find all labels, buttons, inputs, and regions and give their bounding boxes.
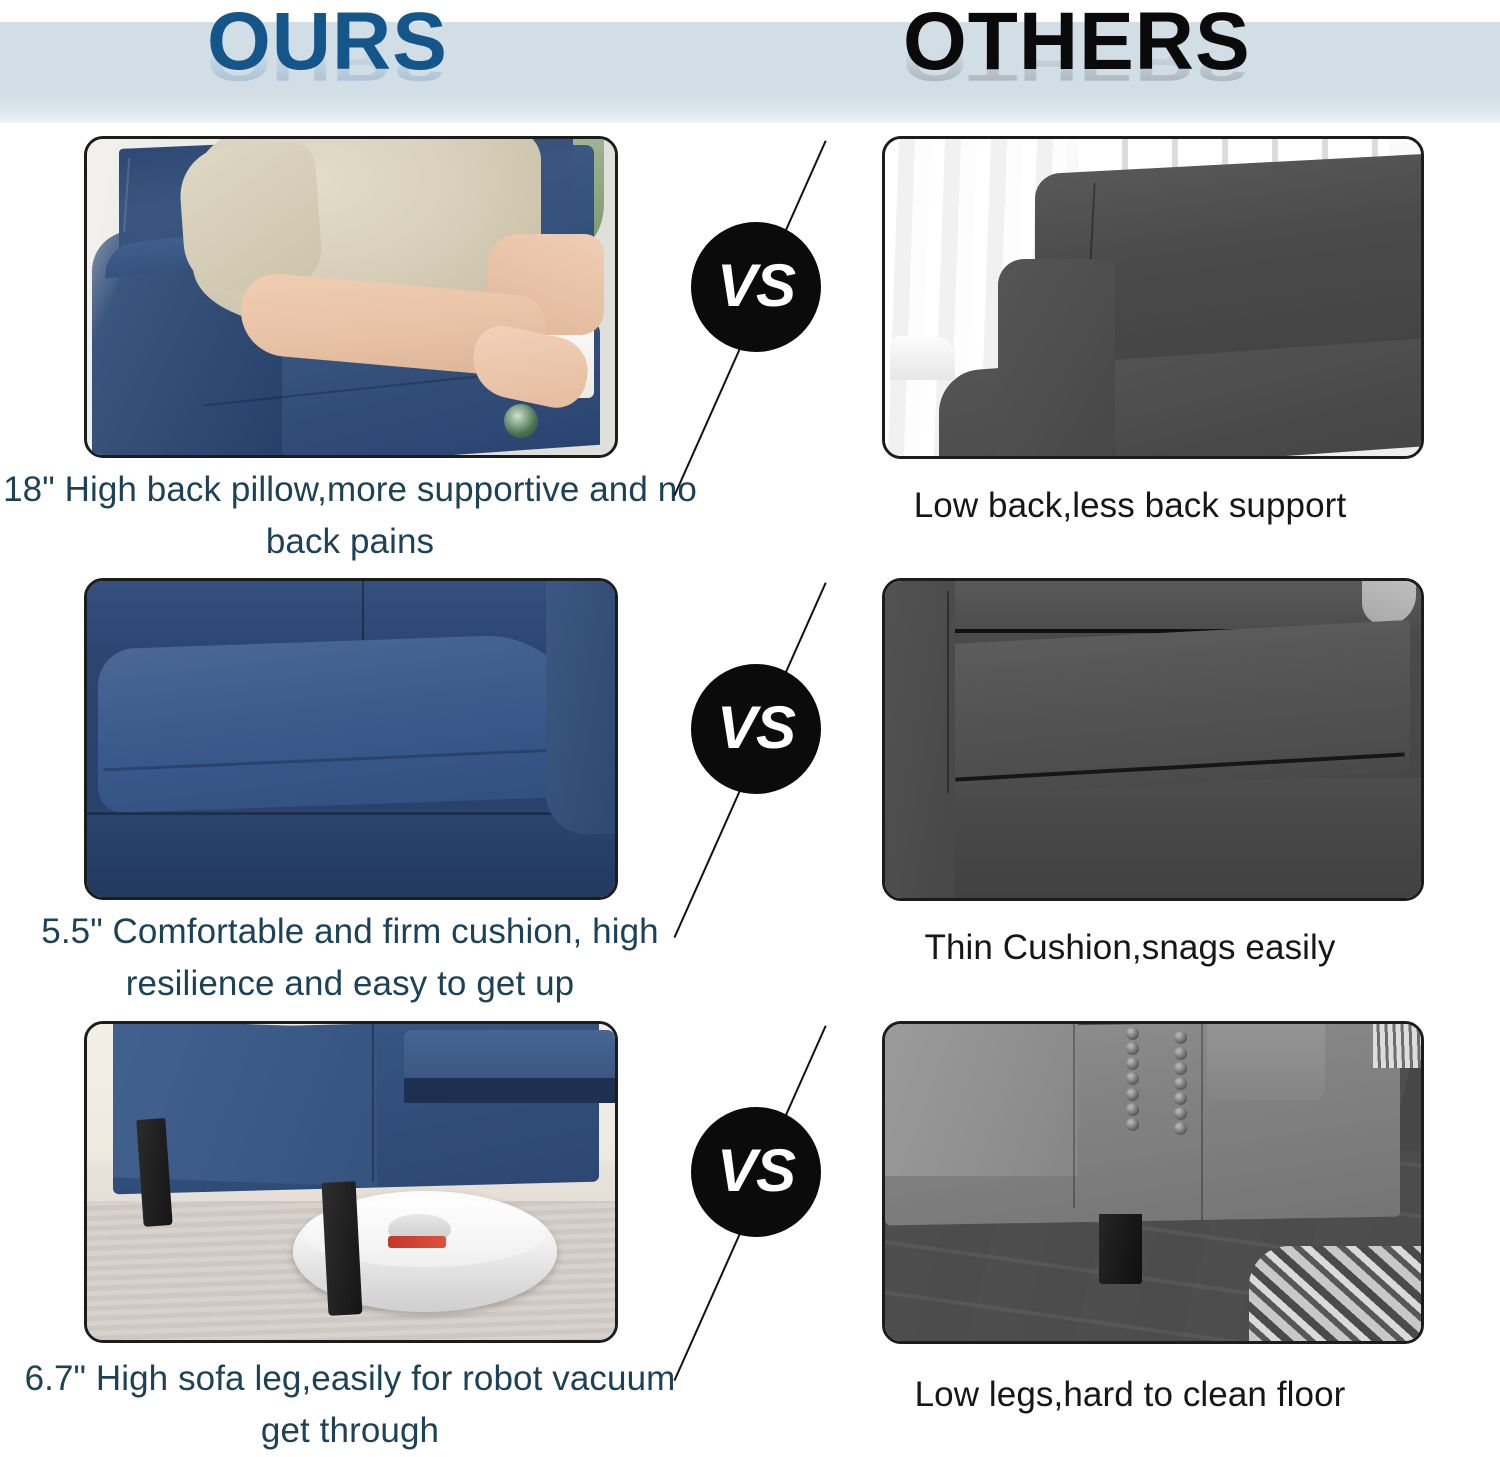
vs-badge-label: VS: [717, 1141, 795, 1201]
others-photo-thin-cushion: [882, 578, 1424, 901]
ours-caption-legs: 6.7" High sofa leg,easily for robot vacu…: [0, 1353, 700, 1457]
others-photo-low-back: [882, 136, 1424, 459]
others-caption-back-support: Low back,less back support: [760, 480, 1500, 532]
others-title: OTHERS: [903, 0, 1251, 90]
ours-photo-high-legs-robot-vacuum: [84, 1021, 618, 1343]
comparison-row-cushion: 5.5" Comfortable and firm cushion, high …: [0, 570, 1500, 1013]
vs-badge-legs: VS: [692, 1108, 820, 1236]
comparison-header: OURS OTHERS OURS OTHERS: [0, 0, 1500, 128]
others-caption-legs: Low legs,hard to clean floor: [760, 1369, 1500, 1421]
others-photo-low-legs: [882, 1021, 1424, 1344]
comparison-row-legs: 6.7" High sofa leg,easily for robot vacu…: [0, 1013, 1500, 1455]
ours-photo-thick-cushion: [84, 578, 618, 900]
ours-caption-back-support: 18" High back pillow,more supportive and…: [0, 464, 700, 568]
vs-badge-label: VS: [717, 256, 795, 316]
ours-photo-high-back-pillow: [84, 136, 618, 458]
ours-title: OURS: [207, 0, 448, 90]
diagonal-line-upper: [761, 582, 826, 725]
ours-caption-cushion: 5.5" Comfortable and firm cushion, high …: [0, 906, 700, 1010]
vs-badge-cushion: VS: [692, 665, 820, 793]
vs-badge-label: VS: [717, 698, 795, 758]
comparison-row-back-support: 18" High back pillow,more supportive and…: [0, 128, 1500, 570]
comparison-grid: 18" High back pillow,more supportive and…: [0, 128, 1500, 1455]
diagonal-line-upper: [761, 140, 826, 283]
others-caption-cushion: Thin Cushion,snags easily: [760, 922, 1500, 974]
diagonal-line-upper: [761, 1025, 826, 1168]
vs-badge-back-support: VS: [692, 223, 820, 351]
